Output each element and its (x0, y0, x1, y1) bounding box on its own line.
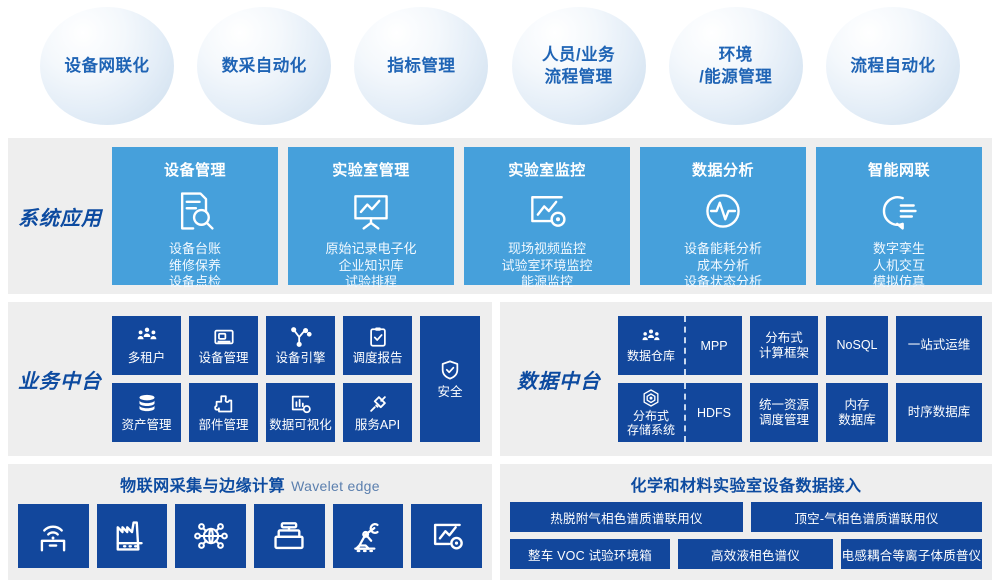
iot-edge-header: 物联网采集与边缘计算Wavelet edge (8, 464, 492, 496)
chem-tile-headspace-gcms[interactable]: 顶空-气相色谱质谱联用仪 (751, 502, 982, 532)
monitor-chart-icon (525, 189, 569, 233)
capability-bubble-label: 环境 /能源管理 (699, 44, 772, 89)
iot-tile-robot-arm[interactable] (333, 504, 404, 568)
data-tile-one-stop-ops[interactable]: 一站式运维 (896, 316, 982, 375)
chemical-lab-section: 化学和材料实验室设备数据接入 热脱附气相色谱质谱联用仪 顶空-气相色谱质谱联用仪… (500, 464, 992, 580)
wifi-gateway-icon (34, 517, 72, 555)
system-applications-label: 系统应用 (18, 202, 102, 231)
card-desc: 原始记录电子化 企业知识库 试验排程 (325, 241, 416, 291)
chem-tile-hplc[interactable]: 高效液相色谱仪 (678, 539, 833, 569)
network-globe-icon (192, 517, 230, 555)
device-box-icon (213, 326, 235, 348)
card-desc: 数字孪生 人机交互 模拟仿真 (873, 241, 925, 291)
business-platform-section: 业务中台 多租户 (8, 302, 492, 456)
card-title: 实验室管理 (332, 159, 410, 180)
shield-check-icon (439, 359, 461, 381)
card-desc: 设备能耗分析 成本分析 设备状态分析 (684, 241, 762, 291)
data-tile-storage-hdfs[interactable]: 分布式 存储系统 HDFS (618, 383, 742, 442)
data-platform-label-wrap: 数据中台 (500, 365, 618, 394)
biz-tile-data-visualization[interactable]: 数据可视化 (266, 383, 335, 442)
chemical-lab-tiles: 热脱附气相色谱质谱联用仪 顶空-气相色谱质谱联用仪 整车 VOC 试验环境箱 高… (500, 496, 992, 569)
biz-tile-label: 资产管理 (121, 418, 171, 433)
hexagon-layers-icon (641, 388, 661, 408)
factory-icon (113, 517, 151, 555)
capability-bubble-4[interactable]: 环境 /能源管理 (669, 7, 803, 125)
business-platform-row-2: 资产管理 部件管理 (112, 383, 412, 442)
biz-tile-security[interactable]: 安全 (420, 316, 480, 442)
iot-edge-subtitle: Wavelet edge (291, 478, 380, 494)
biz-tile-label: 调度报告 (352, 351, 402, 366)
biz-tile-label: 安全 (437, 385, 462, 400)
monitor-chart-icon (428, 517, 466, 555)
biz-tile-asset-management[interactable]: 资产管理 (112, 383, 181, 442)
system-application-cards: 设备管理 设备台账 维修保养 设备点检 实验室管理 (112, 147, 992, 285)
database-stack-icon (136, 393, 158, 415)
system-app-card-lab-monitoring[interactable]: 实验室监控 现场视频监控 试验室环境监控 能源监控 (464, 147, 630, 285)
capability-bubble-3[interactable]: 人员/业务 流程管理 (512, 7, 646, 125)
data-tile-warehouse-mpp[interactable]: 数据仓库 MPP (618, 316, 742, 375)
card-desc: 现场视频监控 试验室环境监控 能源监控 (501, 241, 592, 291)
robot-arm-icon (349, 517, 387, 555)
data-tile-hdfs-label: HDFS (686, 383, 742, 442)
plug-connect-icon (367, 393, 389, 415)
business-platform-row-1: 多租户 设备管理 (112, 316, 412, 375)
card-title: 设备管理 (164, 159, 226, 180)
data-tile-in-memory-db[interactable]: 内存 数据库 (826, 383, 888, 442)
biz-tile-label: 多租户 (128, 351, 166, 366)
iot-tile-wifi-gateway[interactable] (18, 504, 89, 568)
node-branch-icon (290, 326, 312, 348)
data-tile-mpp-label: MPP (686, 316, 742, 375)
top-capability-row: 设备网联化 数采自动化 指标管理 人员/业务 流程管理 环境 /能源管理 流程自… (0, 0, 1000, 132)
chemical-lab-header: 化学和材料实验室设备数据接入 (500, 464, 992, 496)
system-applications-section: 系统应用 设备管理 设备台账 维修保养 设备点检 实验室管理 (8, 138, 992, 294)
capability-bubble-5[interactable]: 流程自动化 (826, 7, 960, 125)
data-platform-row-2: 分布式 存储系统 HDFS 统一资源 调度管理 内存 数据库 时序数据库 (618, 383, 982, 442)
biz-tile-schedule-report[interactable]: 调度报告 (343, 316, 412, 375)
system-applications-label-wrap: 系统应用 (8, 202, 112, 231)
chemical-lab-row-2: 整车 VOC 试验环境箱 高效液相色谱仪 电感耦合等离子体质普仪 (510, 539, 982, 569)
chemical-lab-row-1: 热脱附气相色谱质谱联用仪 顶空-气相色谱质谱联用仪 (510, 502, 982, 532)
capability-bubble-2[interactable]: 指标管理 (354, 7, 488, 125)
chem-tile-icp-ms[interactable]: 电感耦合等离子体质普仪 (841, 539, 982, 569)
data-tile-warehouse[interactable]: 数据仓库 (618, 316, 686, 375)
system-app-card-device-management[interactable]: 设备管理 设备台账 维修保养 设备点检 (112, 147, 278, 285)
biz-tile-label: 服务API (355, 418, 400, 433)
system-app-card-data-analysis[interactable]: 数据分析 设备能耗分析 成本分析 设备状态分析 (640, 147, 806, 285)
sensor-device-icon (270, 517, 308, 555)
iot-tile-monitor-chart[interactable] (411, 504, 482, 568)
system-app-card-intelligent-connectivity[interactable]: 智能网联 数字孪生 人机交互 模拟仿真 (816, 147, 982, 285)
biz-tile-device-engine[interactable]: 设备引擎 (266, 316, 335, 375)
capability-bubble-label: 流程自动化 (850, 55, 935, 77)
chemical-lab-title: 化学和材料实验室设备数据接入 (630, 478, 861, 495)
iot-tile-network-globe[interactable] (175, 504, 246, 568)
capability-bubble-label: 设备网联化 (65, 55, 150, 77)
biz-tile-component-management[interactable]: 部件管理 (189, 383, 258, 442)
card-title: 数据分析 (692, 159, 754, 180)
iot-edge-title: 物联网采集与边缘计算 (120, 478, 285, 495)
data-platform-grid: 数据仓库 MPP 分布式 计算框架 NoSQL 一站式运维 (618, 316, 992, 442)
business-platform-grid: 多租户 设备管理 (112, 316, 492, 442)
data-tile-label: 分布式 存储系统 (627, 410, 675, 438)
capability-bubble-0[interactable]: 设备网联化 (40, 7, 174, 125)
chem-tile-thermal-desorption-gcms[interactable]: 热脱附气相色谱质谱联用仪 (510, 502, 743, 532)
users-group-icon (641, 328, 661, 348)
data-tile-timeseries-db[interactable]: 时序数据库 (896, 383, 982, 442)
data-tile-nosql[interactable]: NoSQL (826, 316, 888, 375)
iot-edge-section: 物联网采集与边缘计算Wavelet edge (8, 464, 492, 580)
card-title: 实验室监控 (508, 159, 586, 180)
capability-bubble-label: 数采自动化 (222, 55, 307, 77)
capability-bubble-1[interactable]: 数采自动化 (197, 7, 331, 125)
biz-tile-label: 数据可视化 (269, 418, 332, 433)
clipboard-check-icon (367, 326, 389, 348)
capability-bubble-label: 人员/业务 流程管理 (542, 44, 615, 89)
system-app-card-lab-management[interactable]: 实验室管理 原始记录电子化 企业知识库 试验排程 (288, 147, 454, 285)
card-title: 智能网联 (868, 159, 930, 180)
biz-tile-label: 设备管理 (198, 351, 248, 366)
bar-chart-view-icon (290, 393, 312, 415)
architecture-diagram: 设备网联化 数采自动化 指标管理 人员/业务 流程管理 环境 /能源管理 流程自… (0, 0, 1000, 588)
ai-head-icon (877, 189, 921, 233)
biz-tile-label: 设备引擎 (275, 351, 325, 366)
puzzle-piece-icon (213, 393, 235, 415)
card-desc: 设备台账 维修保养 设备点检 (169, 241, 221, 291)
data-tile-unified-resource-scheduling[interactable]: 统一资源 调度管理 (750, 383, 818, 442)
presentation-chart-icon (349, 189, 393, 233)
business-platform-label-wrap: 业务中台 (8, 365, 112, 394)
data-tile-distributed-compute[interactable]: 分布式 计算框架 (750, 316, 818, 375)
business-platform-label: 业务中台 (18, 365, 102, 394)
biz-tile-device-management[interactable]: 设备管理 (189, 316, 258, 375)
users-group-icon (136, 326, 158, 348)
business-platform-tiles: 多租户 设备管理 (112, 316, 412, 442)
document-search-icon (173, 189, 217, 233)
biz-tile-label: 部件管理 (198, 418, 248, 433)
biz-tile-service-api[interactable]: 服务API (343, 383, 412, 442)
capability-bubble-label: 指标管理 (387, 55, 455, 77)
data-platform-section: 数据中台 数据仓库 MPP (500, 302, 992, 456)
iot-tile-sensor-device[interactable] (254, 504, 325, 568)
data-tile-label: 数据仓库 (627, 350, 675, 364)
biz-tile-multi-tenant[interactable]: 多租户 (112, 316, 181, 375)
iot-tile-factory[interactable] (97, 504, 168, 568)
data-platform-row-1: 数据仓库 MPP 分布式 计算框架 NoSQL 一站式运维 (618, 316, 982, 375)
iot-edge-icon-row (8, 496, 492, 568)
chem-tile-voc-chamber[interactable]: 整车 VOC 试验环境箱 (510, 539, 670, 569)
data-tile-distributed-storage[interactable]: 分布式 存储系统 (618, 383, 686, 442)
pulse-circle-icon (701, 189, 745, 233)
data-platform-label: 数据中台 (517, 365, 601, 394)
